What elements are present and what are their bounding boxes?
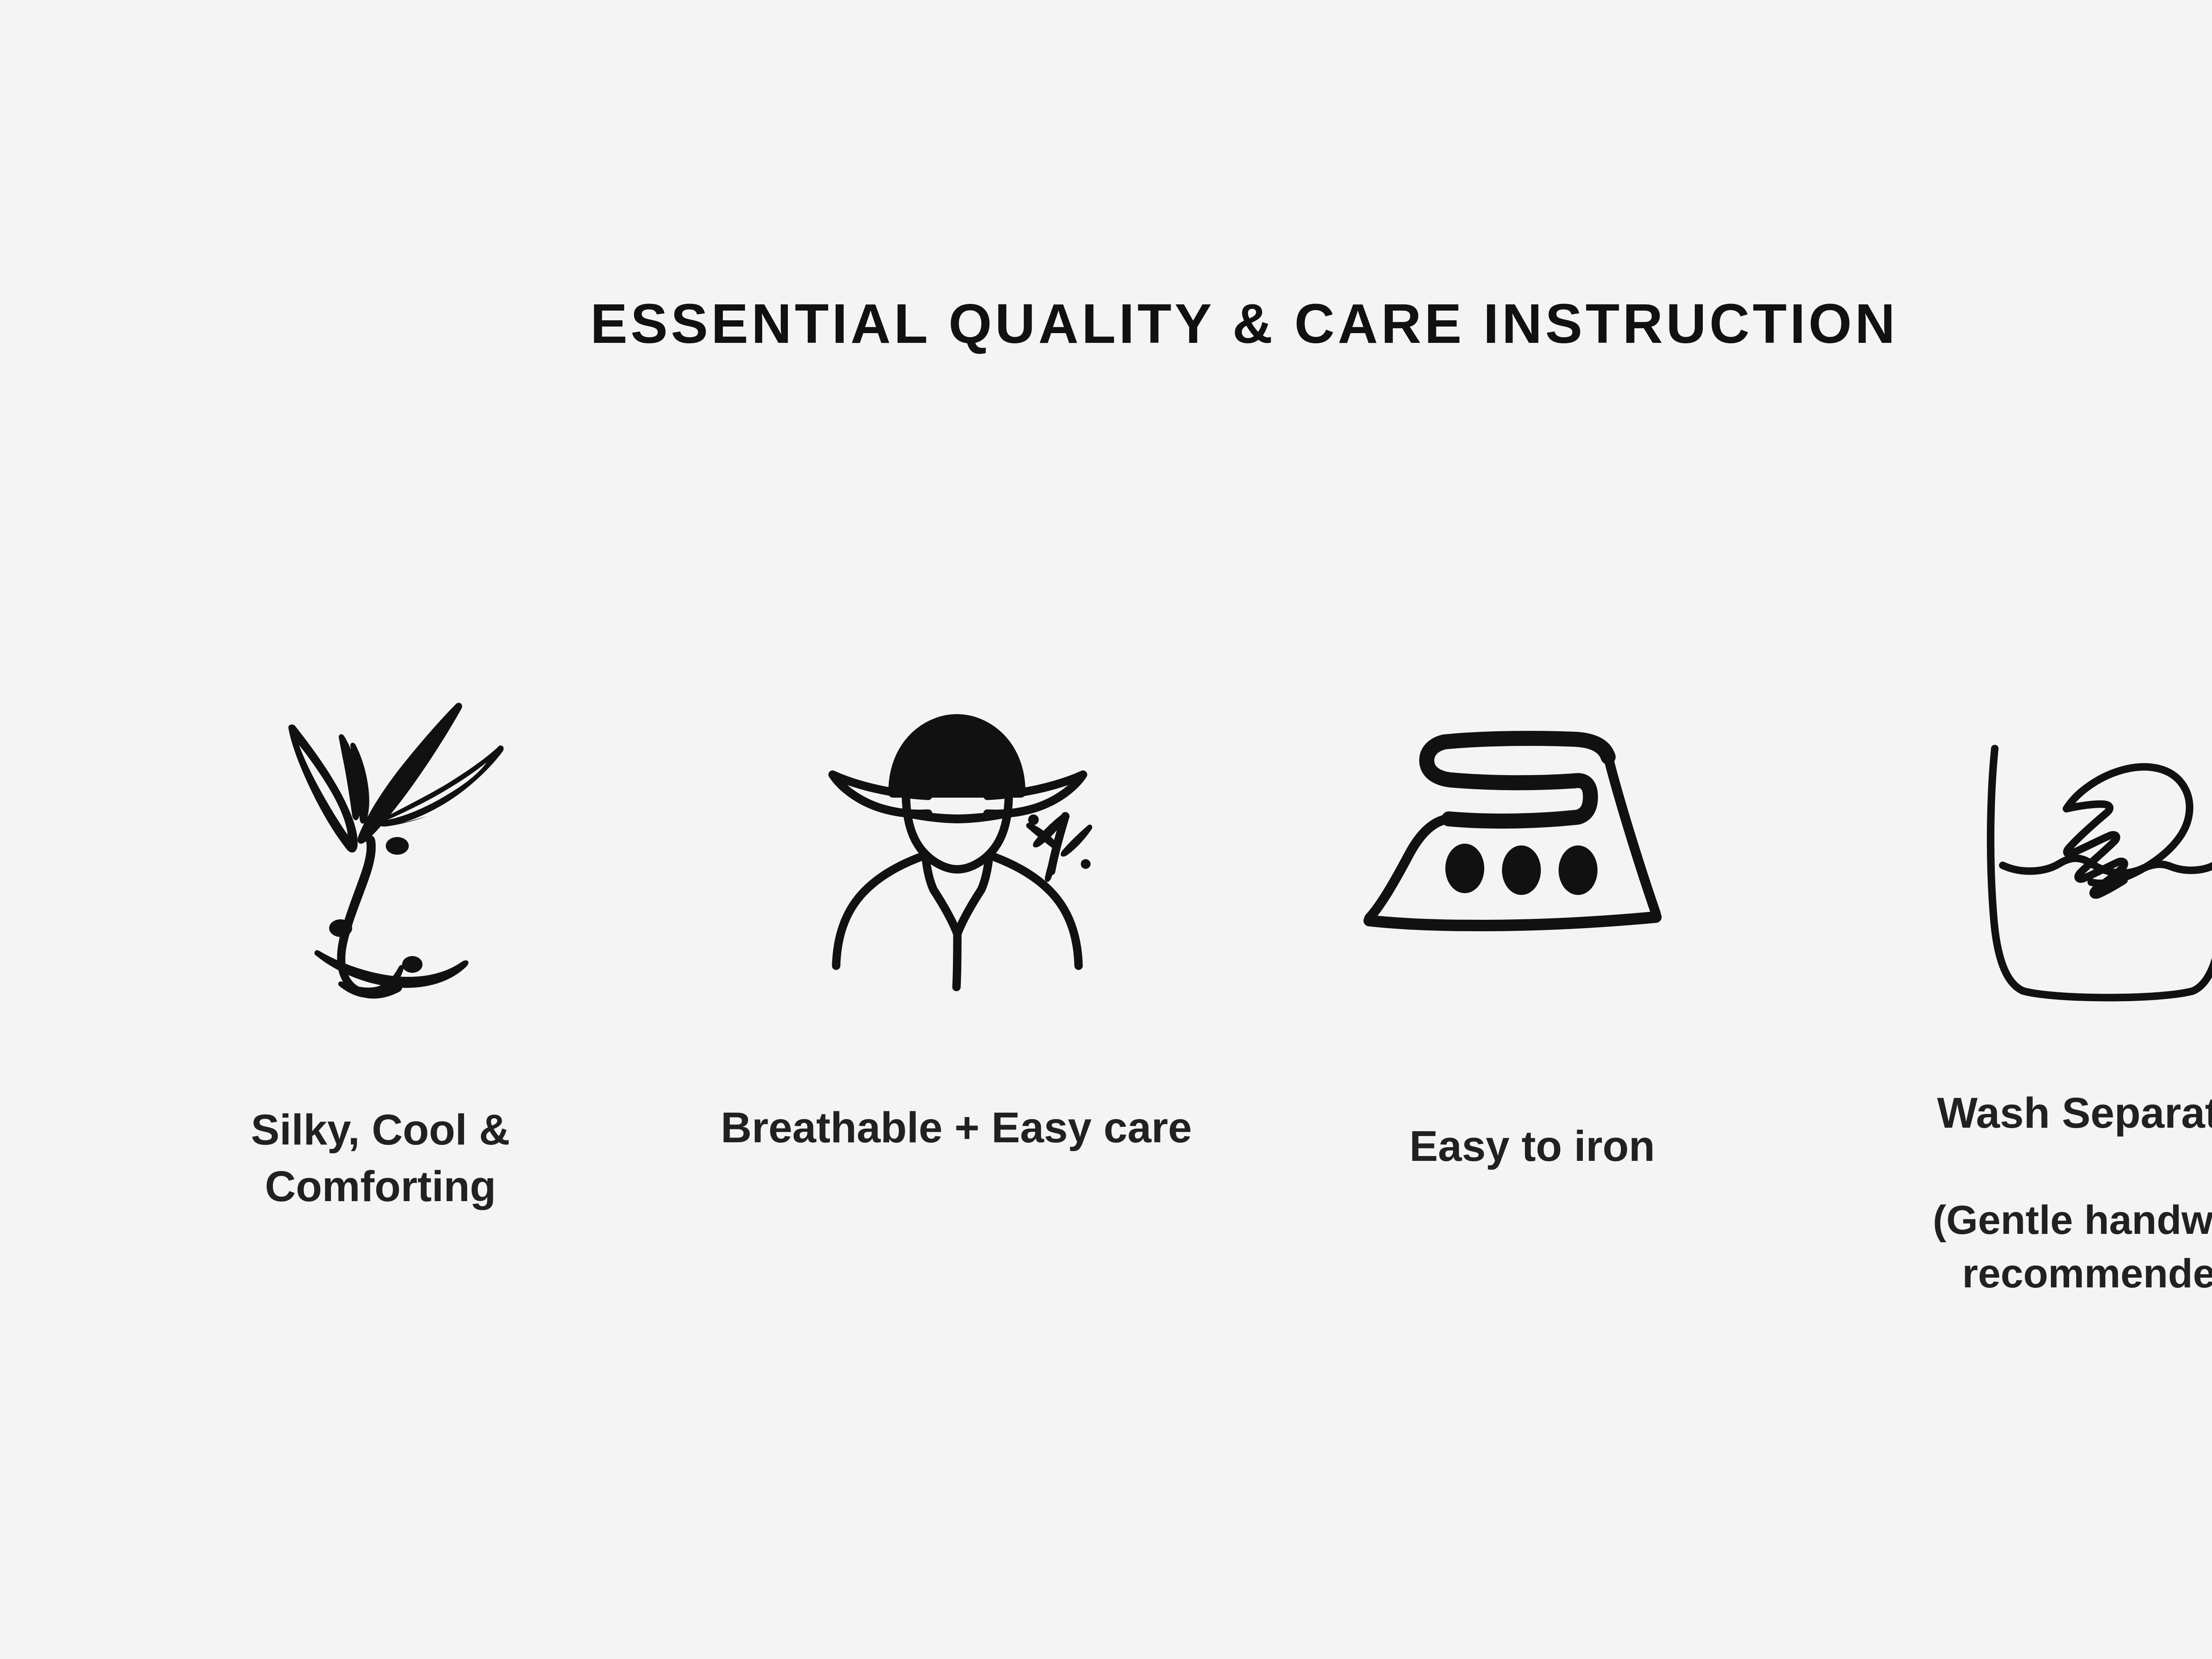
handwash-basin-icon	[1909, 664, 2212, 1075]
farmer-with-hat-icon	[757, 664, 1156, 1073]
feature-item-silky-cool-comforting: Silky, Cool & Comforting	[119, 664, 641, 1215]
feature-label: Silky, Cool & Comforting	[159, 1102, 602, 1215]
sprout-icon	[181, 664, 580, 1075]
feature-columns: Silky, Cool & Comforting	[119, 664, 2212, 1301]
care-instruction-page: ESSENTIAL QUALITY & CARE INSTRUCTION	[0, 0, 2212, 1659]
feature-sublabel: (Gentle handwash recommended)	[1845, 1194, 2212, 1301]
feature-item-easy-to-iron: Easy to iron	[1271, 664, 1793, 1175]
feature-label: Breathable + Easy care	[711, 1099, 1202, 1156]
feature-label: Wash Separately	[1863, 1085, 2212, 1141]
page-title: ESSENTIAL QUALITY & CARE INSTRUCTION	[0, 292, 2212, 356]
feature-item-breathable-easy-care: Breathable + Easy care	[695, 664, 1217, 1156]
feature-label: Easy to iron	[1286, 1118, 1778, 1175]
iron-icon	[1333, 664, 1731, 1091]
feature-item-wash-separately: Wash Separately (Gentle handwash recomme…	[1847, 664, 2212, 1301]
